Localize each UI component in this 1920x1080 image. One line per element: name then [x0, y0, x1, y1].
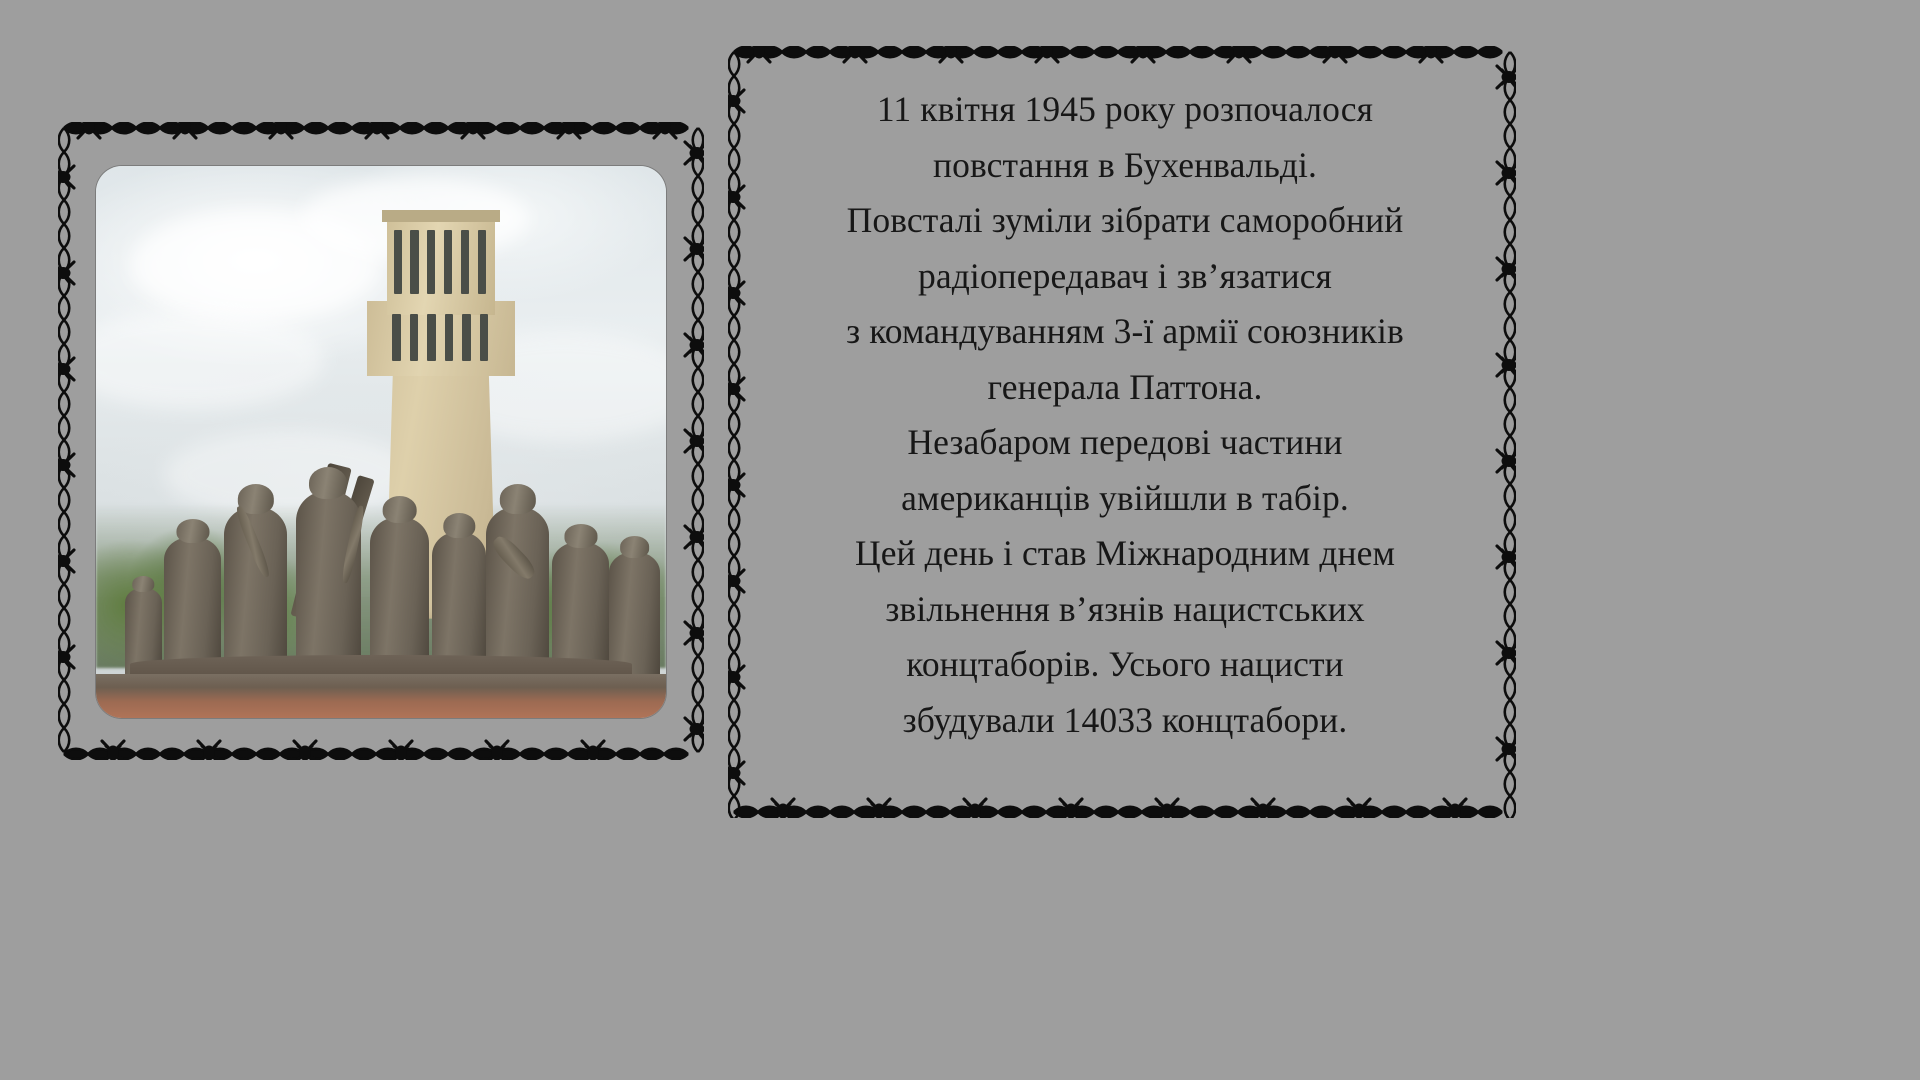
- memorial-photograph: [96, 166, 666, 718]
- text-line: 11 квітня 1945 року розпочалося: [877, 82, 1373, 138]
- text-line: збудували 14033 концтабори.: [903, 693, 1348, 749]
- belfry-louvres: [394, 230, 486, 293]
- photo-panel: [58, 122, 704, 760]
- statue-head: [309, 467, 347, 499]
- statue-figure: [296, 491, 362, 679]
- pointing-arm: [489, 532, 539, 582]
- statue-figure: [486, 507, 549, 680]
- text-line: з командуванням 3-ї армії союзників: [846, 304, 1404, 360]
- raised-arm: [340, 504, 367, 583]
- statue-group: [96, 425, 666, 679]
- slide-text: 11 квітня 1945 року розпочалося повстанн…: [780, 82, 1470, 788]
- midtower-louvres: [392, 314, 488, 361]
- statue-head: [176, 519, 209, 543]
- text-line: Незабаром передові частини: [907, 415, 1342, 471]
- text-line: Цей день і став Міжнародним днем: [855, 526, 1395, 582]
- statue-head: [500, 484, 536, 513]
- text-line: Повсталі зуміли зібрати саморобний: [847, 193, 1404, 249]
- text-line: радіопередавач і зв’язатися: [918, 249, 1332, 305]
- bell-tower-cap: [382, 210, 499, 222]
- text-line: генерала Паттона.: [988, 360, 1263, 416]
- statue-figure: [224, 507, 287, 680]
- slide-root: 11 квітня 1945 року розпочалося повстанн…: [0, 0, 1920, 1080]
- text-line: звільнення в’язнів нацистських: [885, 582, 1364, 638]
- statue-head: [564, 524, 597, 547]
- raised-arm: [233, 505, 272, 580]
- text-line: концтаборів. Усього нацисти: [906, 637, 1343, 693]
- statue-head: [620, 536, 650, 558]
- text-line: американців увійшли в табір.: [901, 471, 1349, 527]
- text-panel: 11 квітня 1945 року розпочалося повстанн…: [728, 46, 1516, 818]
- monument-plinth: [96, 674, 666, 718]
- statue-head: [444, 513, 475, 538]
- text-line: повстання в Бухенвальді.: [933, 138, 1317, 194]
- statue-head: [382, 496, 417, 524]
- statue-head: [132, 576, 153, 592]
